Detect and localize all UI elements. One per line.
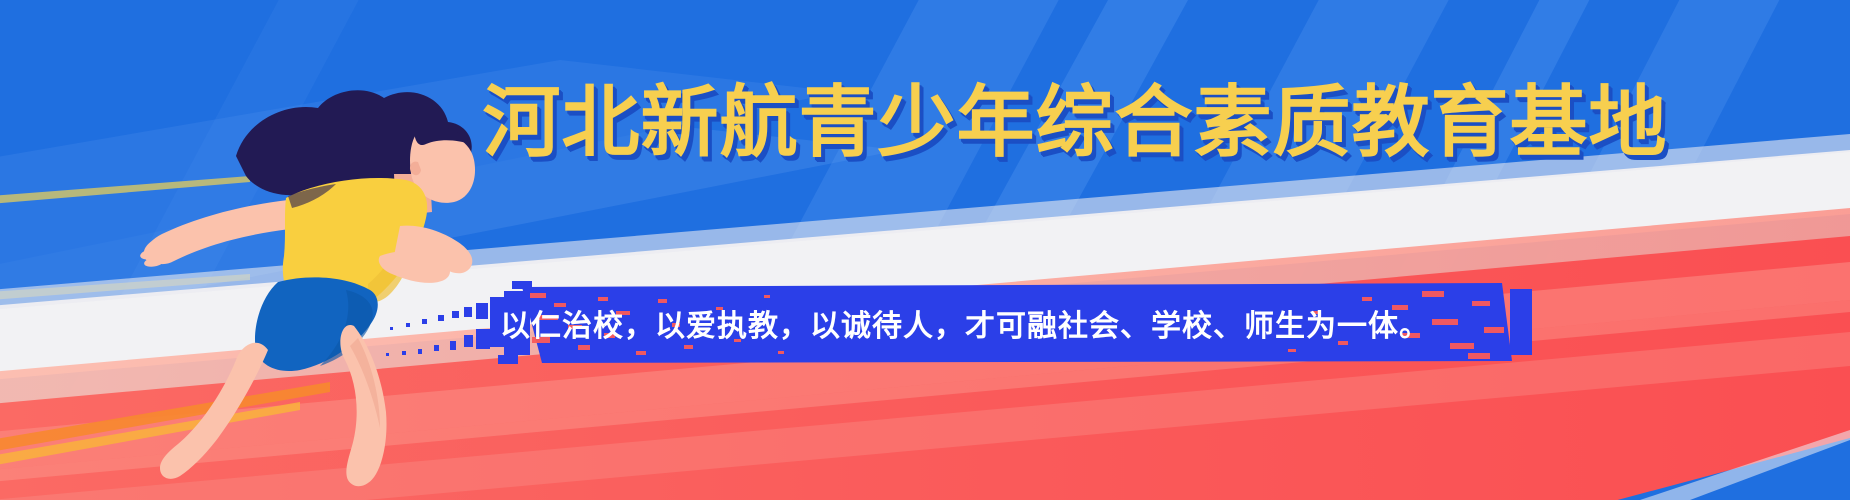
back-leg — [160, 343, 268, 479]
subtitle-brush-band: 以仁治校，以爱执教，以诚待人，才可融社会、学校、师生为一体。 — [372, 281, 1532, 365]
subtitle-slogan: 以仁治校，以爱执教，以诚待人，才可融社会、学校、师生为一体。 — [420, 281, 1510, 365]
promo-banner: 河北新航青少年综合素质教育基地 — [0, 0, 1850, 500]
brush-right-speckle — [1510, 289, 1532, 355]
